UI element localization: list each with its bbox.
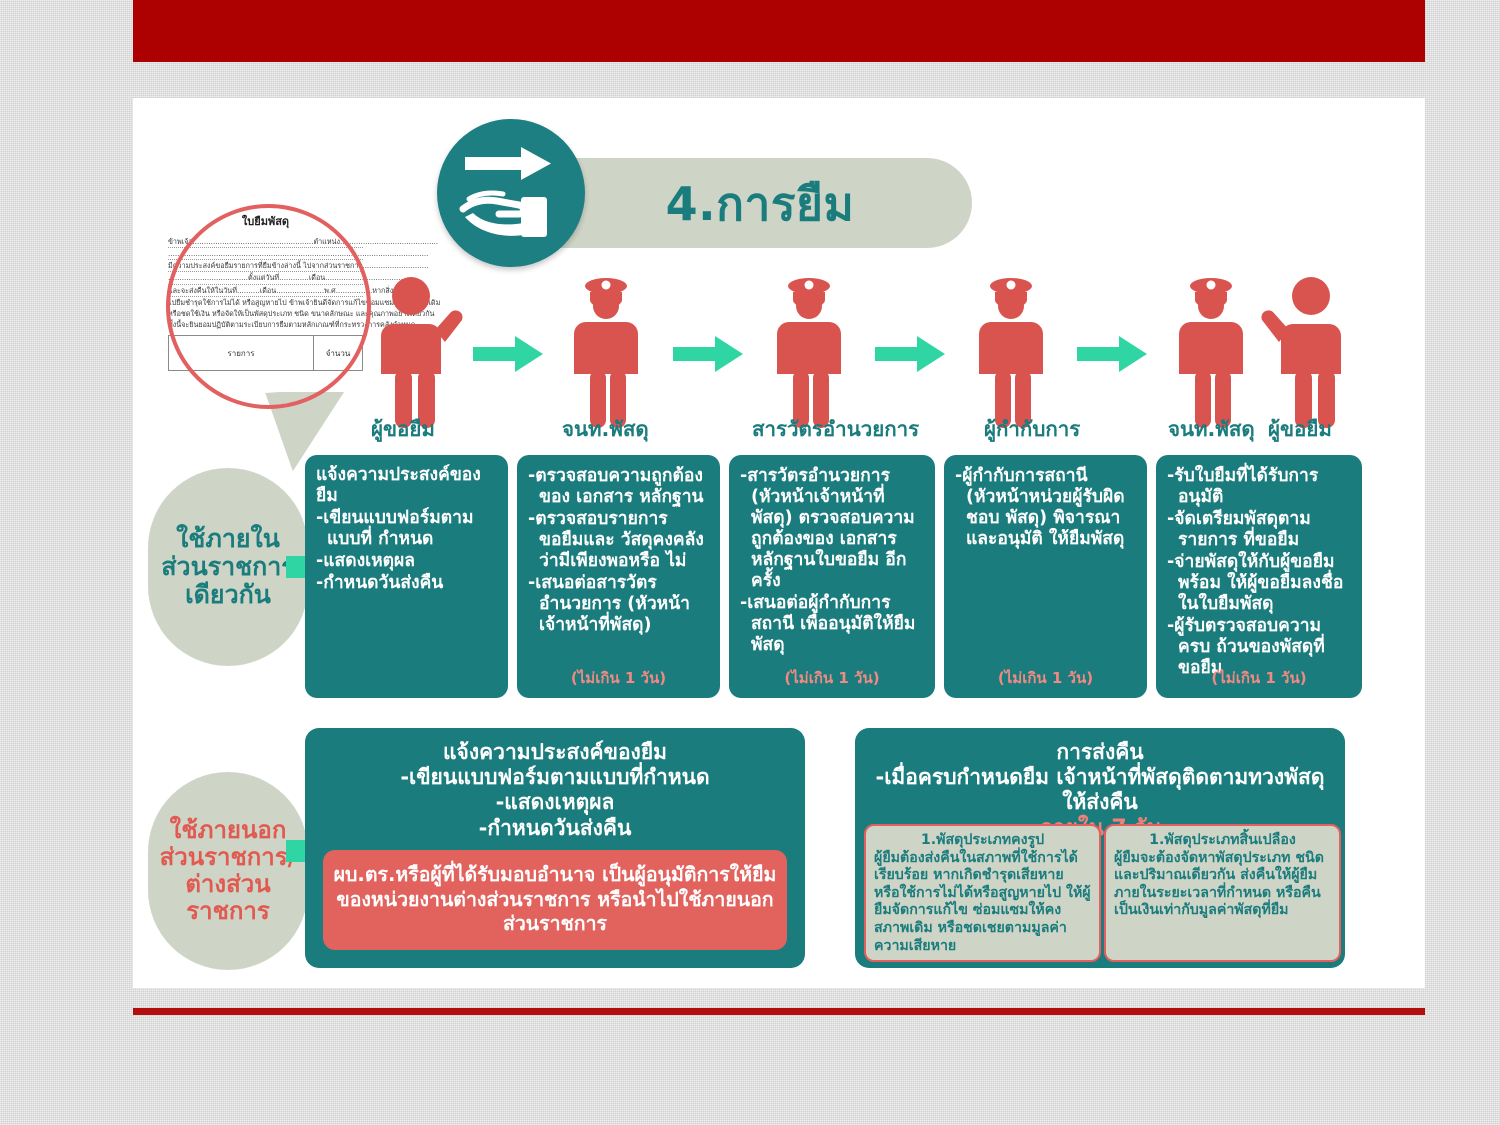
step-box-4[interactable]: -ผู้กำกับการสถานี (หัวหน้าหน่วยผู้รับผิด…: [944, 455, 1147, 698]
arrow-right-icon: [673, 334, 743, 374]
page-title: 4.การยืม: [560, 168, 960, 240]
step-box-5[interactable]: -รับใบยืมที่ได้รับการอนุมัติ -จัดเตรียมพ…: [1156, 455, 1362, 698]
bottom-left-panel[interactable]: แจ้งความประสงค์ของยืม -เขียนแบบฟอร์มตามแ…: [305, 728, 805, 968]
step-item: -ผู้กำกับการสถานี (หัวหน้าหน่วยผู้รับผิด…: [955, 466, 1136, 550]
step-box-3[interactable]: -สารวัตรอำนวยการ (หัวหน้าเจ้าหน้าที่พัสด…: [729, 455, 935, 698]
arrow-right-icon: [875, 334, 945, 374]
oval-line: ส่วนราชการ/: [160, 844, 297, 871]
step-item: -จัดเตรียมพัสดุตามรายการ ที่ขอยืม: [1167, 509, 1351, 551]
step-days: (ไม่เกิน 1 วัน): [517, 666, 720, 690]
subbox-body: ผู้ยืมต้องส่งคืนในสภาพที่ใช้การได้ เรียบ…: [874, 850, 1091, 956]
category-internal-oval: ใช้ภายใน ส่วนราชการ เดียวกัน: [148, 468, 308, 666]
step-box-1[interactable]: แจ้งความประสงค์ของยืม -เขียนแบบฟอร์มตามแ…: [305, 455, 508, 698]
arrow-right-icon: [1077, 334, 1147, 374]
step-item: -จ่ายพัสดุให้กับผู้ขอยืมพร้อม ให้ผู้ขอยื…: [1167, 552, 1351, 615]
step-item: -เขียนแบบฟอร์มตามแบบที่ กำหนด: [316, 508, 497, 550]
notice-line: ผบ.ตร.หรือผู้ที่ได้รับมอบอำนาจ เป็นผู้อน…: [333, 863, 777, 887]
person-label-4: ผู้กำกับการ: [984, 413, 1080, 446]
category-external-oval: ใช้ภายนอก ส่วนราชการ/ ต่างส่วน ราชการ: [148, 772, 308, 970]
bottom-left-line: -กำหนดวันส่งคืน: [319, 816, 791, 841]
subbox-body: ผู้ยืมจะต้องจัดหาพัสดุประเภท ชนิด และปริ…: [1114, 850, 1331, 920]
step-item: -กำหนดวันส่งคืน: [316, 573, 497, 594]
return-title: การส่งคืน: [869, 740, 1331, 765]
person-label-3: สารวัตรอำนวยการ: [752, 413, 919, 446]
subbox-title: 1.พัสดุประเภทคงรูป: [874, 832, 1091, 850]
person-label-6: ผู้ขอยืม: [1268, 413, 1332, 446]
oval-line: ต่างส่วน: [160, 871, 297, 898]
footer-rule: [133, 1008, 1425, 1015]
step-box-2[interactable]: -ตรวจสอบความถูกต้องของ เอกสาร หลักฐาน -ต…: [517, 455, 720, 698]
step-item: -ตรวจสอบความถูกต้องของ เอกสาร หลักฐาน: [528, 466, 709, 508]
oval-line: ส่วนราชการ: [161, 553, 294, 581]
step-heading: แจ้งความประสงค์ของยืม: [316, 465, 497, 507]
notice-line: ของหน่วยงานต่างส่วนราชการ หรือนำไปใช้ภาย…: [333, 888, 777, 937]
step-days: (ไม่เกิน 1 วัน): [729, 666, 935, 690]
step-item: -เสนอต่อผู้กำกับการสถานี เพื่ออนุมัติให้…: [740, 593, 924, 656]
bottom-right-panel[interactable]: การส่งคืน -เมื่อครบกำหนดยืม เจ้าหน้าที่พ…: [855, 728, 1345, 968]
person-label-1: ผู้ขอยืม: [371, 413, 435, 446]
oval-line: ใช้ภายใน: [161, 525, 294, 553]
return-subbox-consumable: 1.พัสดุประเภทสิ้นเปลือง ผู้ยืมจะต้องจัดห…: [1104, 824, 1341, 962]
bottom-left-title: แจ้งความประสงค์ของยืม: [319, 740, 791, 765]
person-label-5: จนท.พัสดุ: [1168, 413, 1255, 446]
person-label-2: จนท.พัสดุ: [562, 413, 649, 446]
oval-line: เดียวกัน: [161, 581, 294, 609]
return-line: -เมื่อครบกำหนดยืม เจ้าหน้าที่พัสดุติดตาม…: [869, 765, 1331, 815]
step-days: (ไม่เกิน 1 วัน): [1156, 666, 1362, 690]
slide: 4.การยืม ใบยืมพัสดุ ข้าพเจ้า............…: [0, 0, 1500, 1125]
step-item: -เสนอต่อสารวัตรอำนวยการ (หัวหน้าเจ้าหน้า…: [528, 573, 709, 636]
header-bar: [133, 0, 1425, 62]
hand-arrow-icon: [437, 119, 585, 267]
step-item: -รับใบยืมที่ได้รับการอนุมัติ: [1167, 466, 1351, 508]
step-item: -สารวัตรอำนวยการ (หัวหน้าเจ้าหน้าที่พัสด…: [740, 466, 924, 592]
step-days: (ไม่เกิน 1 วัน): [944, 666, 1147, 690]
step-item: -แสดงเหตุผล: [316, 551, 497, 572]
arrow-right-icon: [473, 334, 543, 374]
return-subbox-durable: 1.พัสดุประเภทคงรูป ผู้ยืมต้องส่งคืนในสภา…: [864, 824, 1101, 962]
step-item: -ตรวจสอบรายการขอยืมและ วัสดุคงคลังว่ามีเ…: [528, 509, 709, 572]
oval-line: ราชการ: [160, 898, 297, 925]
magnifier-ring-icon: [166, 204, 371, 409]
oval-line: ใช้ภายนอก: [160, 817, 297, 844]
bottom-left-line: -เขียนแบบฟอร์มตามแบบที่กำหนด: [319, 765, 791, 790]
authorization-notice: ผบ.ตร.หรือผู้ที่ได้รับมอบอำนาจ เป็นผู้อน…: [323, 850, 787, 950]
bottom-left-line: -แสดงเหตุผล: [319, 790, 791, 815]
subbox-title: 1.พัสดุประเภทสิ้นเปลือง: [1114, 832, 1331, 850]
